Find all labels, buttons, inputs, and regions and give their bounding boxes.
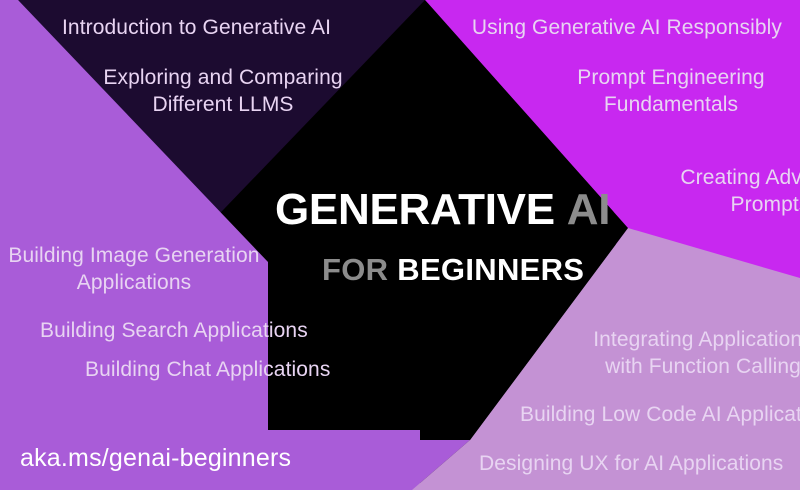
poster-canvas: Introduction to Generative AI Exploring …	[0, 0, 800, 490]
short-url-link[interactable]: aka.ms/genai-beginners	[20, 444, 291, 473]
background-geometry	[0, 0, 800, 490]
